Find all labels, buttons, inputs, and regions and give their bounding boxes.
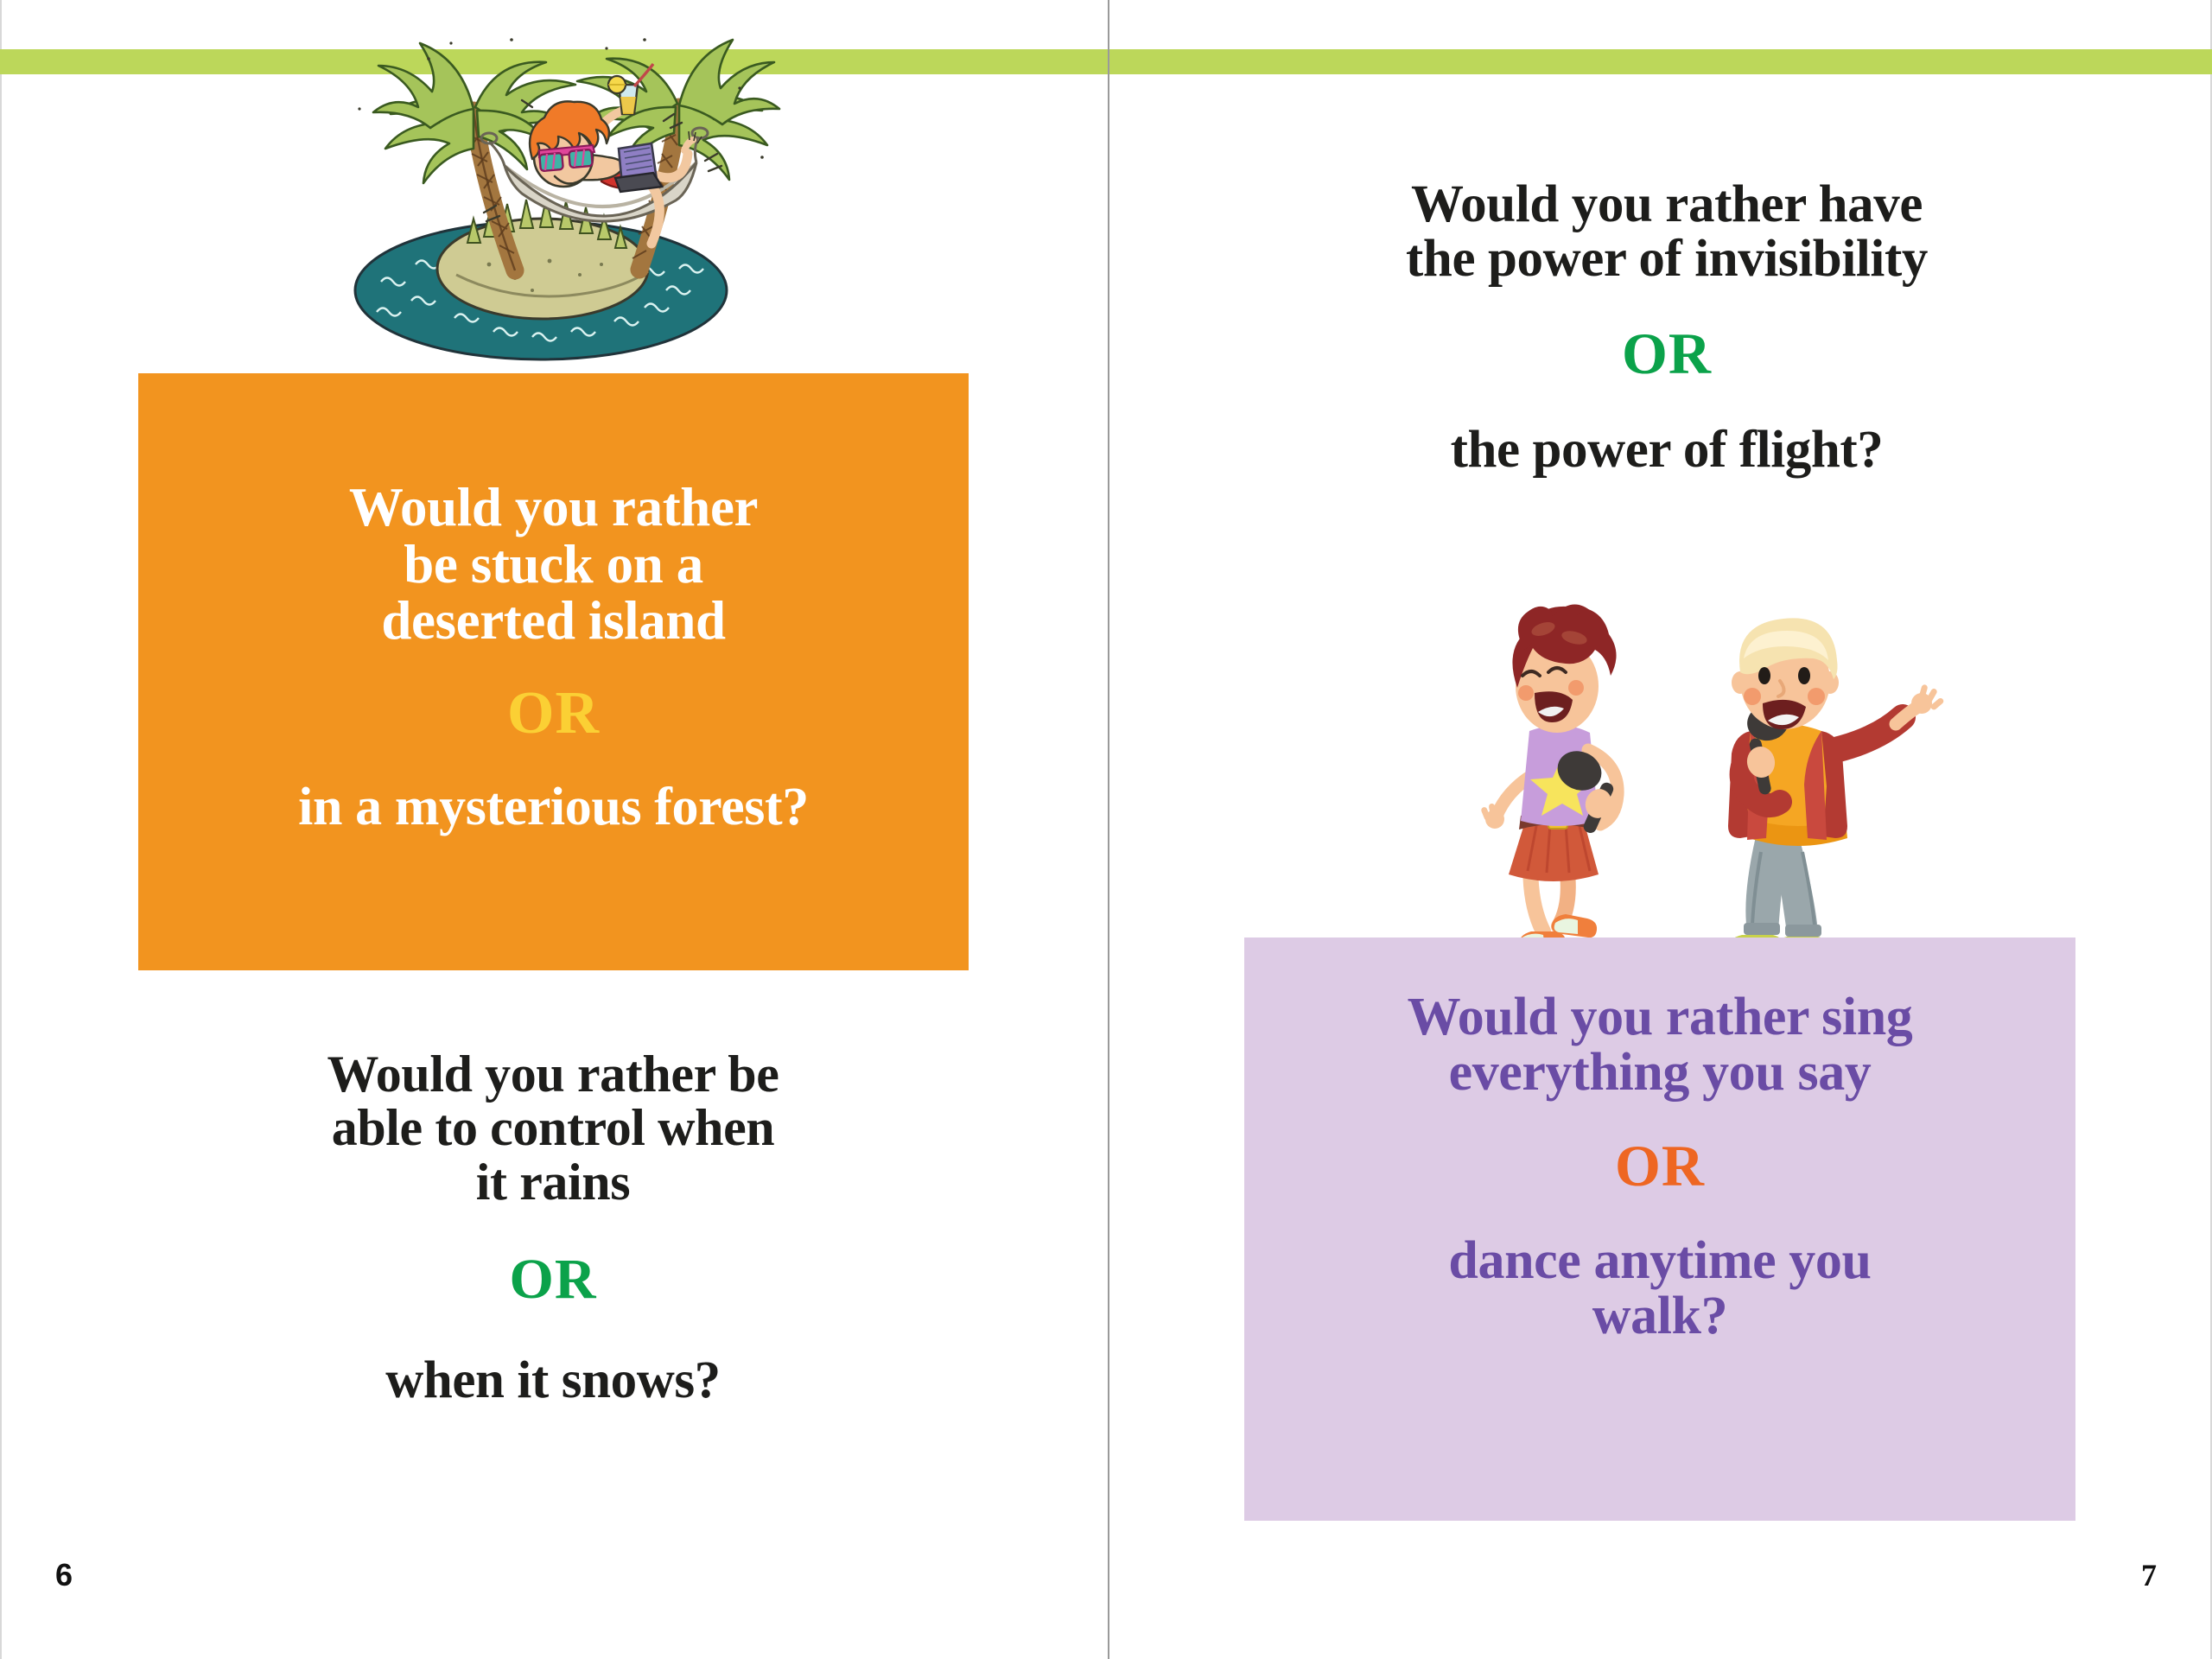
kids-singing-illustration: [1434, 593, 2005, 973]
question-line: deserted island: [138, 593, 969, 650]
question-alternative: dance anytime you: [1244, 1233, 2075, 1288]
question-line: everything you say: [1244, 1045, 2075, 1100]
question-alternative: in a mysterious forest?: [138, 779, 969, 835]
or-separator: OR: [104, 1250, 1002, 1310]
question-line: it rains: [104, 1155, 1002, 1209]
page-number-left: 6: [55, 1557, 73, 1593]
or-separator: OR: [1244, 1135, 2075, 1197]
question-sing-or-dance: Would you rather sing everything you say…: [1244, 989, 2075, 1344]
or-separator: OR: [138, 683, 969, 746]
question-line: Would you rather be: [104, 1047, 1002, 1101]
question-line: be stuck on a: [138, 537, 969, 594]
question-line: Would you rather: [138, 480, 969, 537]
question-alternative: the power of flight?: [1222, 423, 2112, 477]
page-right: Would you rather have the power of invis…: [1109, 0, 2212, 1659]
question-superpower: Would you rather have the power of invis…: [1222, 177, 2112, 477]
question-line: Would you rather have: [1222, 177, 2112, 232]
page-left: Would you rather be stuck on a deserted …: [0, 0, 1108, 1659]
question-control-weather: Would you rather be able to control when…: [104, 1047, 1002, 1408]
question-line: Would you rather sing: [1244, 989, 2075, 1045]
page-gutter-divider: [1108, 0, 1109, 1659]
question-alternative: when it snows?: [104, 1353, 1002, 1408]
question-line: the power of invisibility: [1222, 232, 2112, 286]
or-separator: OR: [1222, 323, 2112, 385]
question-alternative: walk?: [1244, 1288, 2075, 1344]
desert-island-illustration: [273, 5, 809, 394]
page-number-right: 7: [2141, 1557, 2157, 1593]
question-deserted-island: Would you rather be stuck on a deserted …: [138, 480, 969, 836]
question-line: able to control when: [104, 1101, 1002, 1154]
book-spread: Would you rather be stuck on a deserted …: [0, 0, 2212, 1659]
